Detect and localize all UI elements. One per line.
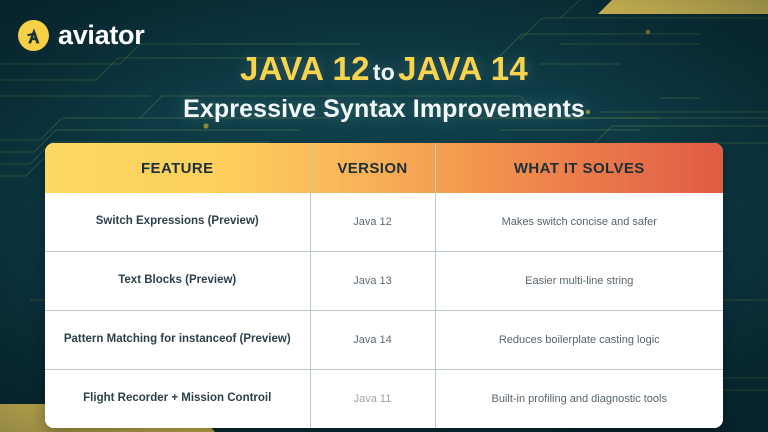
brand-logo[interactable]: aviator bbox=[18, 20, 144, 51]
title-part-2: JAVA 14 bbox=[398, 50, 528, 87]
cell-solves: Reduces boilerplate casting logic bbox=[435, 311, 723, 370]
column-header-feature: FEATURE bbox=[45, 143, 310, 193]
cell-feature: Pattern Matching for instanceof (Preview… bbox=[45, 311, 310, 370]
cell-feature: Switch Expressions (Preview) bbox=[45, 193, 310, 252]
cell-solves: Built-in profiling and diagnostic tools bbox=[435, 370, 723, 429]
cell-version: Java 11 bbox=[310, 370, 435, 429]
cell-feature: Text Blocks (Preview) bbox=[45, 252, 310, 311]
aviator-a-monogram-icon bbox=[18, 20, 49, 51]
page-title: JAVA 12toJAVA 14 bbox=[0, 52, 768, 85]
table-header-row: FEATURE VERSION WHAT IT SOLVES bbox=[45, 143, 723, 193]
slide-canvas: aviator JAVA 12toJAVA 14 Expressive Synt… bbox=[0, 0, 768, 432]
column-header-version: VERSION bbox=[310, 143, 435, 193]
cell-feature: Flight Recorder + Mission Controil bbox=[45, 370, 310, 429]
table-row: Pattern Matching for instanceof (Preview… bbox=[45, 311, 723, 370]
table-row: Flight Recorder + Mission Controil Java … bbox=[45, 370, 723, 429]
accent-band-top-right bbox=[598, 0, 768, 14]
cell-version: Java 13 bbox=[310, 252, 435, 311]
page-subtitle: Expressive Syntax Improvements bbox=[0, 96, 768, 124]
cell-solves: Makes switch concise and safer bbox=[435, 193, 723, 252]
title-part-1: JAVA 12 bbox=[240, 50, 370, 87]
cell-version: Java 14 bbox=[310, 311, 435, 370]
cell-solves: Easier multi-line string bbox=[435, 252, 723, 311]
table-body: Switch Expressions (Preview) Java 12 Mak… bbox=[45, 193, 723, 428]
brand-name: aviator bbox=[58, 22, 144, 49]
table-row: Switch Expressions (Preview) Java 12 Mak… bbox=[45, 193, 723, 252]
table-row: Text Blocks (Preview) Java 13 Easier mul… bbox=[45, 252, 723, 311]
column-header-what-it-solves: WHAT IT SOLVES bbox=[435, 143, 723, 193]
title-connector: to bbox=[370, 59, 398, 85]
comparison-table: FEATURE VERSION WHAT IT SOLVES Switch Ex… bbox=[45, 143, 723, 428]
cell-version: Java 12 bbox=[310, 193, 435, 252]
